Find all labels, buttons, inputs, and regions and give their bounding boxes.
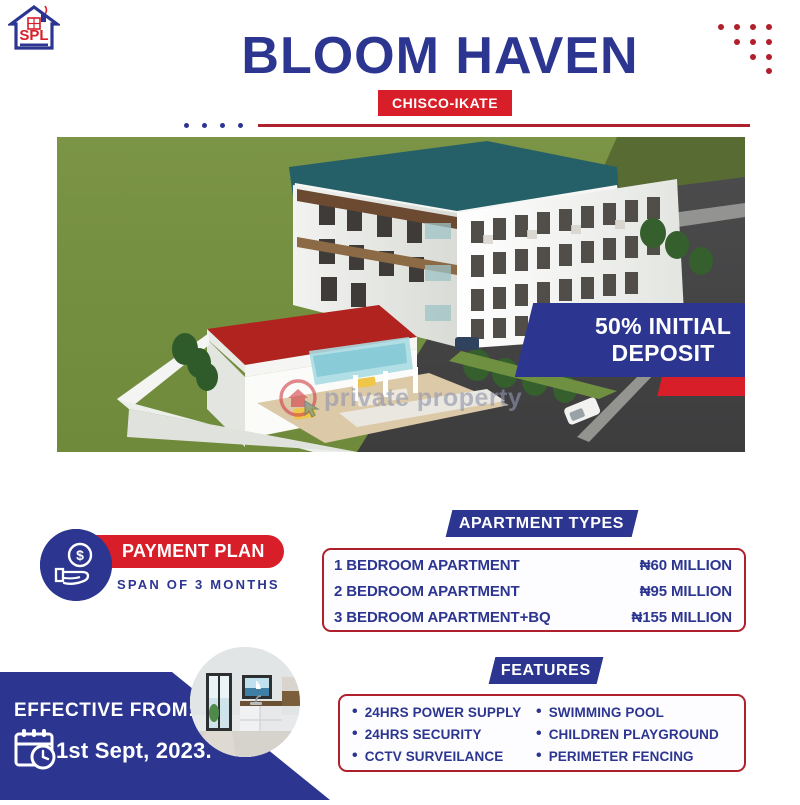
features-column-left: • 24HRS POWER SUPPLY • 24HRS SECURITY • … — [352, 701, 542, 767]
apartment-name: 3 BEDROOM APARTMENT+BQ — [324, 609, 594, 626]
feature-label: PERIMETER FENCING — [549, 749, 694, 764]
table-row: 3 BEDROOM APARTMENT+BQ ₦155 MILLION — [324, 604, 744, 630]
bullet-icon: • — [536, 704, 542, 720]
feature-label: CHILDREN PLAYGROUND — [549, 727, 719, 742]
list-item: • 24HRS POWER SUPPLY — [352, 701, 542, 723]
feature-label: 24HRS POWER SUPPLY — [365, 705, 522, 720]
features-list: • 24HRS POWER SUPPLY • 24HRS SECURITY • … — [338, 694, 746, 772]
list-item: • SWIMMING POOL — [536, 701, 746, 723]
bullet-icon: • — [352, 748, 358, 764]
calendar-clock-icon — [13, 727, 61, 771]
apartment-name: 2 BEDROOM APARTMENT — [324, 583, 594, 600]
list-item: • 24HRS SECURITY — [352, 723, 542, 745]
effective-from-date: 1st Sept, 2023. — [56, 738, 212, 764]
apartment-types-table: 1 BEDROOM APARTMENT ₦60 MILLION 2 BEDROO… — [322, 548, 746, 632]
feature-label: SWIMMING POOL — [549, 705, 664, 720]
poster-canvas: SPL BLOOM HAVEN CHISCO-IKATE — [0, 0, 800, 800]
payment-plan-subtitle: SPAN OF 3 MONTHS — [117, 577, 317, 592]
feature-label: CCTV SURVEILANCE — [365, 749, 504, 764]
list-item: • CCTV SURVEILANCE — [352, 745, 542, 767]
interior-photo — [190, 647, 300, 757]
svg-text:$: $ — [76, 547, 84, 563]
table-row: 1 BEDROOM APARTMENT ₦60 MILLION — [324, 552, 744, 578]
bullet-icon: • — [536, 726, 542, 742]
watermark-text: private property — [324, 384, 522, 413]
features-heading: FEATURES — [489, 657, 604, 684]
payment-plan-title: PAYMENT PLAN — [122, 541, 265, 562]
hand-holding-money-icon: $ — [40, 529, 112, 601]
deposit-line-2: DEPOSIT — [611, 340, 714, 366]
bullet-icon: • — [352, 726, 358, 742]
bullet-icon: • — [352, 704, 358, 720]
page-title: BLOOM HAVEN — [180, 30, 700, 82]
apartment-price: ₦155 MILLION — [594, 609, 744, 626]
table-row: 2 BEDROOM APARTMENT ₦95 MILLION — [324, 578, 744, 604]
bullet-icon: • — [536, 748, 542, 764]
dot-row-icon — [184, 123, 243, 128]
house-spl-logo-icon: SPL — [8, 4, 60, 54]
apartment-types-heading: APARTMENT TYPES — [446, 510, 639, 537]
payment-plan-badge: PAYMENT PLAN — [86, 535, 284, 568]
features-column-right: • SWIMMING POOL • CHILDREN PLAYGROUND • … — [536, 701, 746, 767]
list-item: • CHILDREN PLAYGROUND — [536, 723, 746, 745]
apartment-name: 1 BEDROOM APARTMENT — [324, 557, 594, 574]
header-divider — [258, 124, 750, 127]
apartment-price: ₦60 MILLION — [594, 557, 744, 574]
deposit-line-1: 50% INITIAL — [595, 313, 731, 339]
location-badge: CHISCO-IKATE — [378, 90, 512, 116]
list-item: • PERIMETER FENCING — [536, 745, 746, 767]
cursor-arrow-icon — [304, 400, 320, 418]
watermark: private property — [278, 378, 522, 418]
dot-triangle-icon — [718, 10, 782, 70]
svg-text:SPL: SPL — [19, 27, 48, 44]
effective-from-label: EFFECTIVE FROM: — [14, 700, 195, 722]
hero-right-mask — [745, 137, 800, 457]
feature-label: 24HRS SECURITY — [365, 727, 482, 742]
apartment-price: ₦95 MILLION — [594, 583, 744, 600]
